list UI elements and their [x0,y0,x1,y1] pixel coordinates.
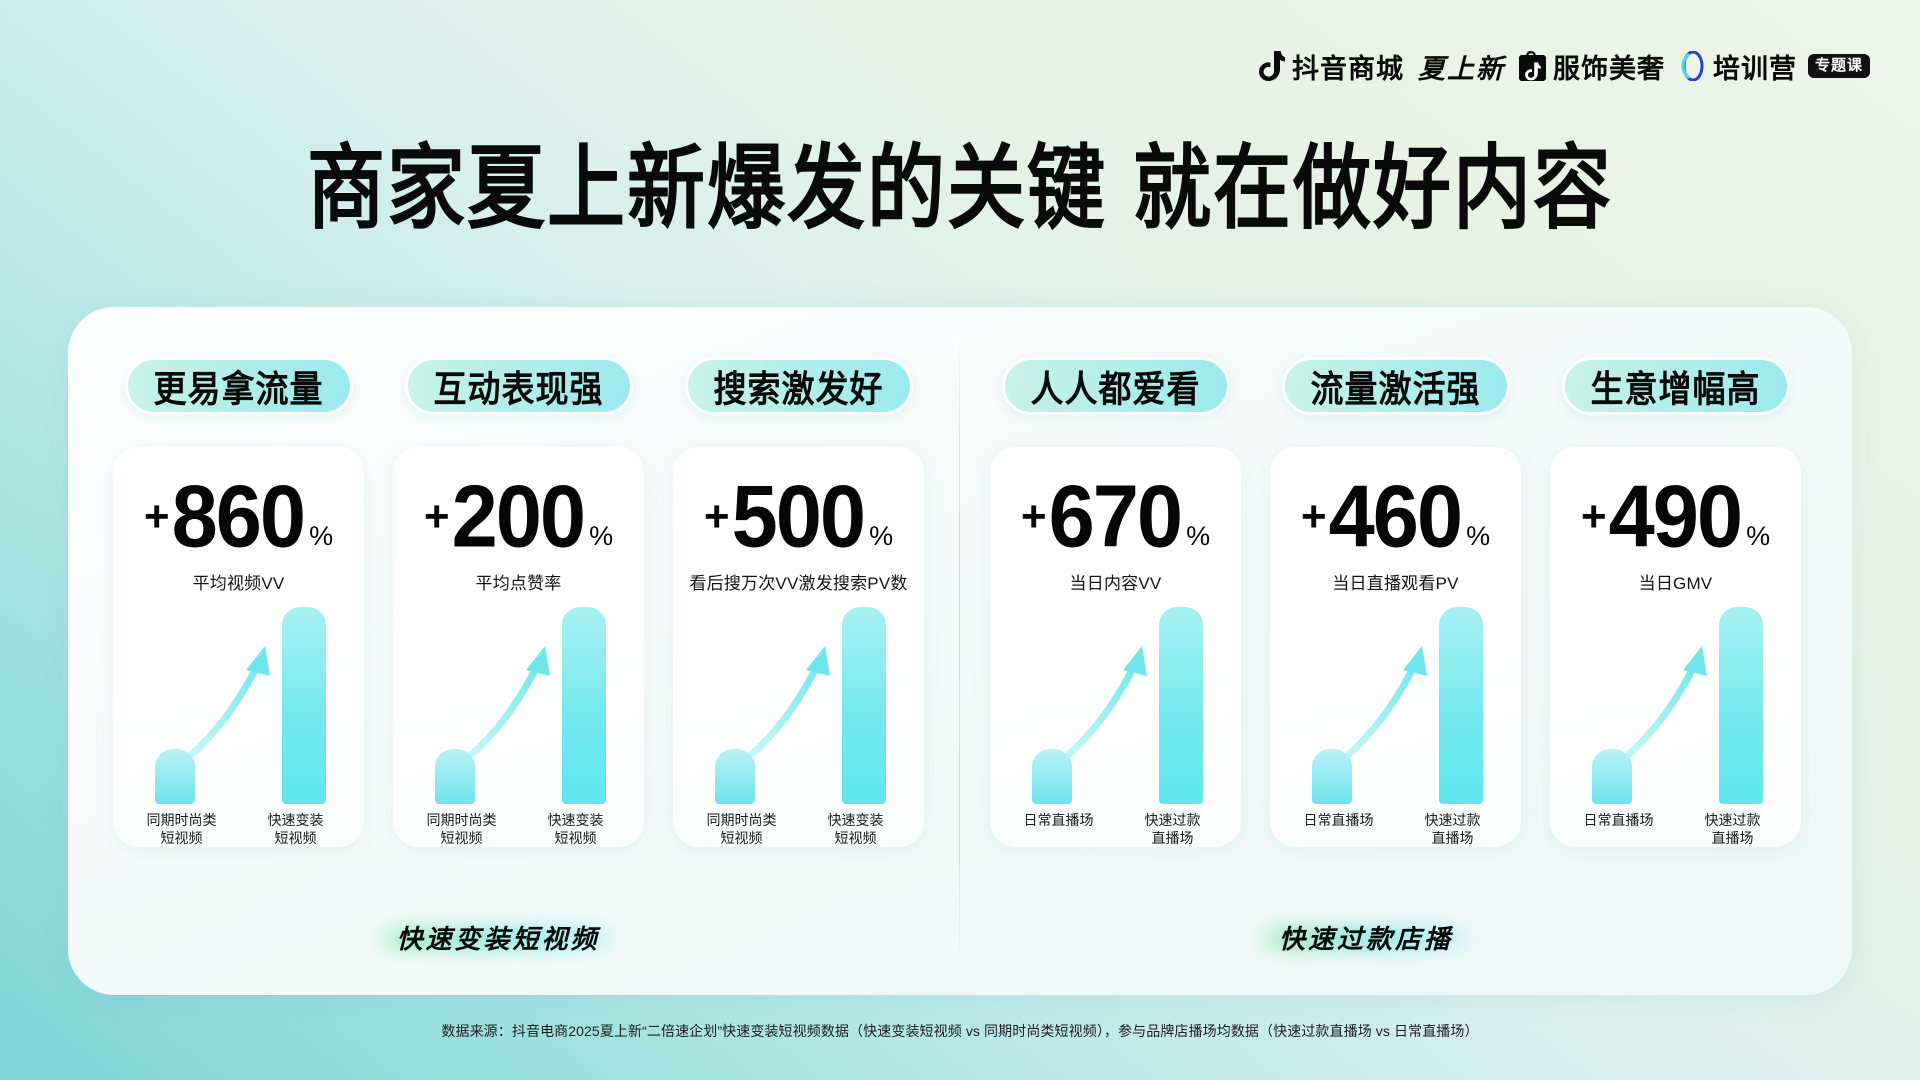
value-plus-sign: + [1581,495,1607,539]
card-metric-label: 当日直播观看PV [1332,569,1458,594]
card-group-short-video: 更易拿流量 + 860 % 平均视频VV [111,307,926,847]
brand-label: 抖音商城 [1292,47,1404,86]
bar-label-row: 日常直播场 快速过款 直播场 [1283,812,1509,847]
card-statbox: + 670 % 当日内容VV 日常直播场 快速过款 直播场 [990,447,1241,847]
category-label: 服饰美奢 [1553,47,1665,86]
bar-label-row: 日常直播场 快速过款 直播场 [1003,812,1229,847]
card-value-group: + 490 % [1581,475,1770,558]
card-statbox: + 460 % 当日直播观看PV 日常直播场 快速过款 直播场 [1270,447,1521,847]
bar-baseline [155,749,195,804]
top-brand-bar: 抖音商城 夏上新 服饰美奢 培训营 专题课 [1259,48,1870,84]
campaign-label: 夏上新 [1418,47,1505,86]
bar-label-baseline: 日常直播场 [1009,812,1109,847]
bar-label-baseline: 日常直播场 [1289,812,1389,847]
value-plus-sign: + [1301,495,1327,539]
bar-label-row: 同期时尚类 短视频 快速变装 短视频 [406,812,632,847]
card-pill: 更易拿流量 [125,357,353,415]
value-number: 860 [172,473,304,561]
bar-label-baseline: 同期时尚类 短视频 [412,812,512,847]
stat-card[interactable]: 互动表现强 + 200 % 平均点赞率 [391,307,646,847]
value-percent-sign: % [309,523,333,550]
card-bar-chart [691,604,906,804]
category-group: 服饰美奢 [1519,47,1665,86]
value-percent-sign: % [869,523,893,550]
bar-highlight [282,607,326,804]
stat-card[interactable]: 人人都爱看 + 670 % 当日内容VV [988,307,1243,847]
page-title-part2: 就在做好内容 [1133,136,1613,240]
program-tag-badge: 专题课 [1808,54,1870,78]
card-bar-chart [131,604,346,804]
group-footer-label: 快速变装短视频 [386,921,609,957]
value-percent-sign: % [1466,523,1490,550]
card-metric-label: 看后搜万次VV激发搜索PV数 [689,569,907,594]
bar-highlight [562,607,606,804]
card-pill: 人人都爱看 [1002,357,1230,415]
card-bar-chart [1288,604,1503,804]
bar-highlight [1439,607,1483,804]
value-plus-sign: + [1021,495,1047,539]
card-metric-label: 当日内容VV [1070,569,1162,594]
card-pill: 生意增幅高 [1562,357,1790,415]
stat-card[interactable]: 更易拿流量 + 860 % 平均视频VV [111,307,366,847]
program-group: 培训营 专题课 [1679,47,1870,86]
value-percent-sign: % [589,523,613,550]
ring-logo-icon [1679,51,1706,81]
card-bar-chart [411,604,626,804]
group-footer-live-stream: 快速过款店播 [1236,919,1496,956]
bar-highlight [1159,607,1203,804]
bar-label-row: 同期时尚类 短视频 快速变装 短视频 [686,812,912,847]
stat-card[interactable]: 生意增幅高 + 490 % 当日GMV [1548,307,1803,847]
bar-highlight [1719,607,1763,804]
stat-card[interactable]: 搜索激发好 + 500 % 看后搜万次VV激发搜索PV数 [671,307,926,847]
card-pill: 搜索激发好 [685,357,913,415]
bar-label-row: 同期时尚类 短视频 快速变装 短视频 [126,812,352,847]
bar-baseline [435,749,475,804]
value-number: 670 [1049,473,1181,561]
card-value-group: + 670 % [1021,475,1210,558]
group-footer-short-video: 快速变装短视频 [368,919,628,956]
stats-panel: 更易拿流量 + 860 % 平均视频VV [68,307,1852,995]
value-percent-sign: % [1186,523,1210,550]
bar-baseline [1312,749,1352,804]
value-plus-sign: + [144,495,170,539]
bar-label-highlight: 快速过款 直播场 [1683,812,1783,847]
bar-label-highlight: 快速变装 短视频 [526,812,626,847]
bar-baseline [1032,749,1072,804]
bar-label-highlight: 快速变装 短视频 [246,812,346,847]
bar-label-highlight: 快速过款 直播场 [1123,812,1223,847]
value-number: 200 [452,473,584,561]
bar-label-baseline: 同期时尚类 短视频 [692,812,792,847]
card-bar-chart [1008,604,1223,804]
page-title-part1: 商家夏上新爆发的关键 [307,136,1107,240]
value-number: 460 [1329,473,1461,561]
card-pill: 互动表现强 [405,357,633,415]
card-statbox: + 860 % 平均视频VV 同期时尚类 短视频 快速变装 短视频 [113,447,364,847]
card-pill-label: 流量激活强 [1311,360,1481,413]
value-percent-sign: % [1746,523,1770,550]
shopping-bag-icon [1519,51,1546,81]
card-value-group: + 860 % [144,475,333,558]
card-pill-label: 人人都爱看 [1031,360,1201,413]
card-pill: 流量激活强 [1282,357,1510,415]
card-value-group: + 460 % [1301,475,1490,558]
tiktok-note-icon [1259,51,1285,81]
card-pill-label: 生意增幅高 [1591,360,1761,413]
page-title: 商家夏上新爆发的关键就在做好内容 [0,142,1920,234]
card-group-live-stream: 人人都爱看 + 670 % 当日内容VV [988,307,1803,847]
card-metric-label: 平均点赞率 [476,569,562,594]
bar-baseline [715,749,755,804]
card-statbox: + 490 % 当日GMV 日常直播场 快速过款 直播场 [1550,447,1801,847]
bar-highlight [842,607,886,804]
group-footer-label: 快速过款店播 [1269,921,1463,957]
data-source-footnote: 数据来源：抖音电商2025夏上新“二倍速企划”快速变装短视频数据（快速变装短视频… [0,1021,1920,1041]
card-metric-label: 当日GMV [1639,569,1713,594]
program-label: 培训营 [1713,47,1797,86]
value-plus-sign: + [704,495,730,539]
bar-label-baseline: 日常直播场 [1569,812,1669,847]
card-statbox: + 500 % 看后搜万次VV激发搜索PV数 同期时尚类 短视频 快速变装 短 [673,447,924,847]
bar-label-highlight: 快速过款 直播场 [1403,812,1503,847]
value-number: 490 [1609,473,1741,561]
card-pill-label: 搜索激发好 [714,360,884,413]
stat-card[interactable]: 流量激活强 + 460 % 当日直播观看PV [1268,307,1523,847]
card-value-group: + 200 % [424,475,613,558]
card-pill-label: 更易拿流量 [154,360,324,413]
value-plus-sign: + [424,495,450,539]
card-statbox: + 200 % 平均点赞率 同期时尚类 短视频 快速变装 短视频 [393,447,644,847]
bar-label-row: 日常直播场 快速过款 直播场 [1563,812,1789,847]
bar-label-baseline: 同期时尚类 短视频 [132,812,232,847]
card-pill-label: 互动表现强 [434,360,604,413]
cards-container: 更易拿流量 + 860 % 平均视频VV [68,307,1852,847]
card-value-group: + 500 % [704,475,893,558]
card-metric-label: 平均视频VV [193,569,285,594]
card-bar-chart [1568,604,1783,804]
value-number: 500 [732,473,864,561]
bar-label-highlight: 快速变装 短视频 [806,812,906,847]
brand-douyin-mall: 抖音商城 [1259,47,1404,86]
bar-baseline [1592,749,1632,804]
